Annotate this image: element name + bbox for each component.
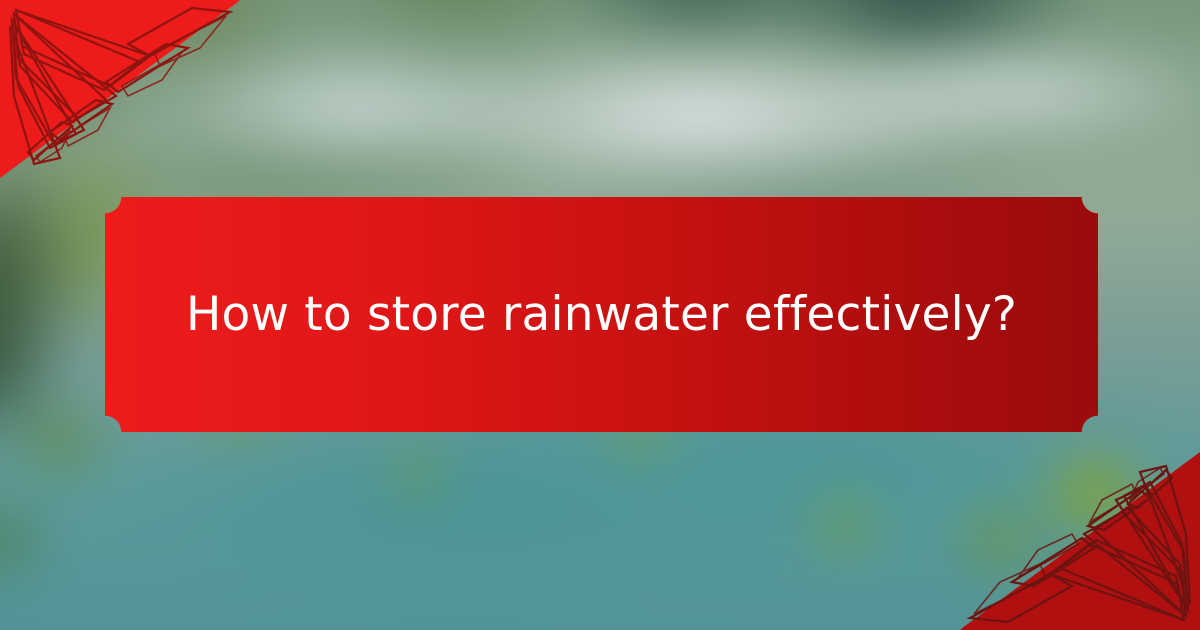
page-title: How to store rainwater effectively? xyxy=(146,289,1057,341)
social-card: How to store rainwater effectively? xyxy=(0,0,1200,630)
title-banner: How to store rainwater effectively? xyxy=(105,197,1098,432)
